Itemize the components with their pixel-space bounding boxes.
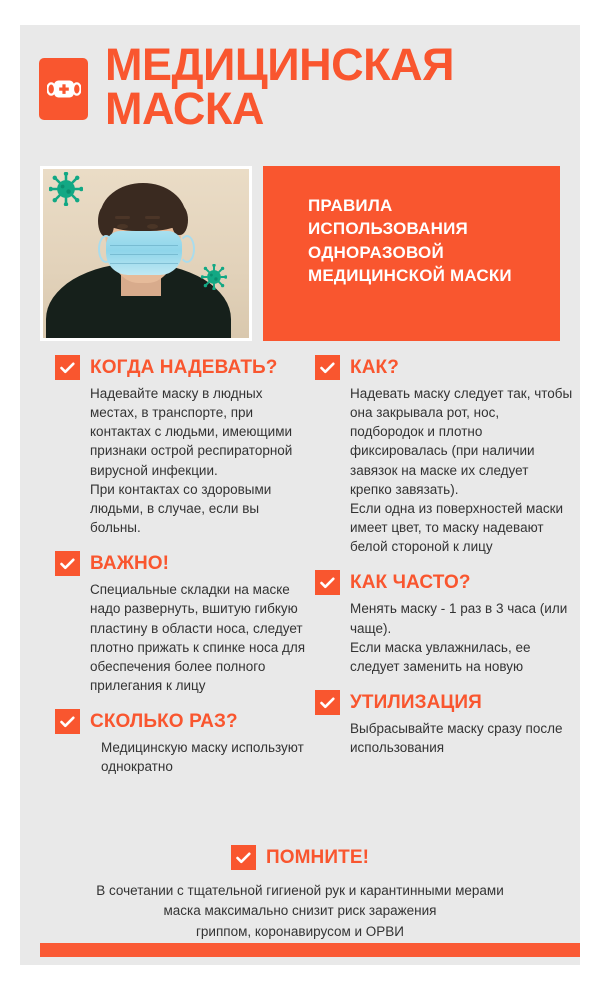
section-body: Надевать маску следует так, чтобы она за…	[350, 384, 573, 556]
section-how-many-times: СКОЛЬКО РАЗ? Медицинскую маску использую…	[55, 709, 310, 776]
photo-eyebrow-left	[115, 216, 130, 219]
right-column: КАК? Надевать маску следует так, чтобы о…	[315, 355, 573, 771]
poster-footer: ПОМНИТЕ! В сочетании с тщательной гигиен…	[20, 845, 580, 965]
checkmark-icon	[55, 709, 80, 734]
title-line-2: МАСКА	[105, 87, 575, 131]
hero-row: ПРАВИЛА ИСПОЛЬЗОВАНИЯ ОДНОРАЗОВОЙ МЕДИЦИ…	[20, 153, 580, 343]
checkmark-icon	[315, 690, 340, 715]
footer-accent-bar	[40, 943, 580, 957]
footer-title: ПОМНИТЕ!	[266, 847, 369, 869]
coronavirus-icon	[49, 172, 83, 211]
title-line-1: МЕДИЦИНСКАЯ	[105, 43, 575, 87]
checkmark-icon	[55, 551, 80, 576]
section-body: Специальные складки на маске надо развер…	[90, 580, 310, 695]
section-title: КОГДА НАДЕВАТЬ?	[90, 357, 277, 379]
section-body: Надевайте маску в людных местах, в транс…	[90, 384, 310, 537]
rules-banner: ПРАВИЛА ИСПОЛЬЗОВАНИЯ ОДНОРАЗОВОЙ МЕДИЦИ…	[263, 166, 560, 341]
section-header: СКОЛЬКО РАЗ?	[55, 709, 310, 734]
coronavirus-icon	[201, 264, 227, 295]
section-title: СКОЛЬКО РАЗ?	[90, 711, 238, 733]
infographic-poster: МЕДИЦИНСКАЯ МАСКА	[20, 25, 580, 965]
checkmark-icon	[315, 570, 340, 595]
section-header: УТИЛИЗАЦИЯ	[315, 690, 573, 715]
photo-eyebrow-right	[145, 216, 160, 219]
mask-pleat	[110, 245, 178, 246]
section-title: УТИЛИЗАЦИЯ	[350, 692, 482, 714]
footer-header: ПОМНИТЕ!	[20, 845, 580, 870]
section-important: ВАЖНО! Специальные складки на маске надо…	[55, 551, 310, 695]
photo-eye-left	[117, 224, 128, 229]
section-disposal: УТИЛИЗАЦИЯ Выбрасывайте маску сразу посл…	[315, 690, 573, 757]
section-how-often: КАК ЧАСТО? Менять маску - 1 раз в 3 часа…	[315, 570, 573, 676]
section-title: ВАЖНО!	[90, 553, 169, 575]
left-column: КОГДА НАДЕВАТЬ? Надевайте маску в людных…	[55, 355, 310, 791]
photo-surgical-mask	[106, 231, 182, 275]
footer-body: В сочетании с тщательной гигиеной рук и …	[50, 881, 550, 942]
man-wearing-surgical-mask-photo	[43, 169, 249, 338]
mask-pleat	[110, 254, 178, 255]
section-title: КАК?	[350, 357, 399, 379]
checkmark-icon	[231, 845, 256, 870]
photo-frame	[40, 166, 252, 341]
checkmark-icon	[315, 355, 340, 380]
section-header: КАК ЧАСТО?	[315, 570, 573, 595]
medical-mask-cross-icon	[39, 58, 88, 120]
photo-eye-right	[147, 224, 158, 229]
rules-banner-text: ПРАВИЛА ИСПОЛЬЗОВАНИЯ ОДНОРАЗОВОЙ МЕДИЦИ…	[308, 194, 543, 288]
checkmark-icon	[55, 355, 80, 380]
section-when-to-wear: КОГДА НАДЕВАТЬ? Надевайте маску в людных…	[55, 355, 310, 537]
poster-header: МЕДИЦИНСКАЯ МАСКА	[20, 25, 580, 155]
section-header: ВАЖНО!	[55, 551, 310, 576]
section-body: Выбрасывайте маску сразу после использов…	[350, 719, 573, 757]
mask-pleat	[110, 263, 178, 264]
section-body: Медицинскую маску используют однократно	[101, 738, 310, 776]
section-header: КОГДА НАДЕВАТЬ?	[55, 355, 310, 380]
section-title: КАК ЧАСТО?	[350, 572, 471, 594]
section-header: КАК?	[315, 355, 573, 380]
section-how: КАК? Надевать маску следует так, чтобы о…	[315, 355, 573, 556]
section-body: Менять маску - 1 раз в 3 часа (или чаще)…	[350, 599, 573, 676]
page-title: МЕДИЦИНСКАЯ МАСКА	[105, 43, 575, 131]
